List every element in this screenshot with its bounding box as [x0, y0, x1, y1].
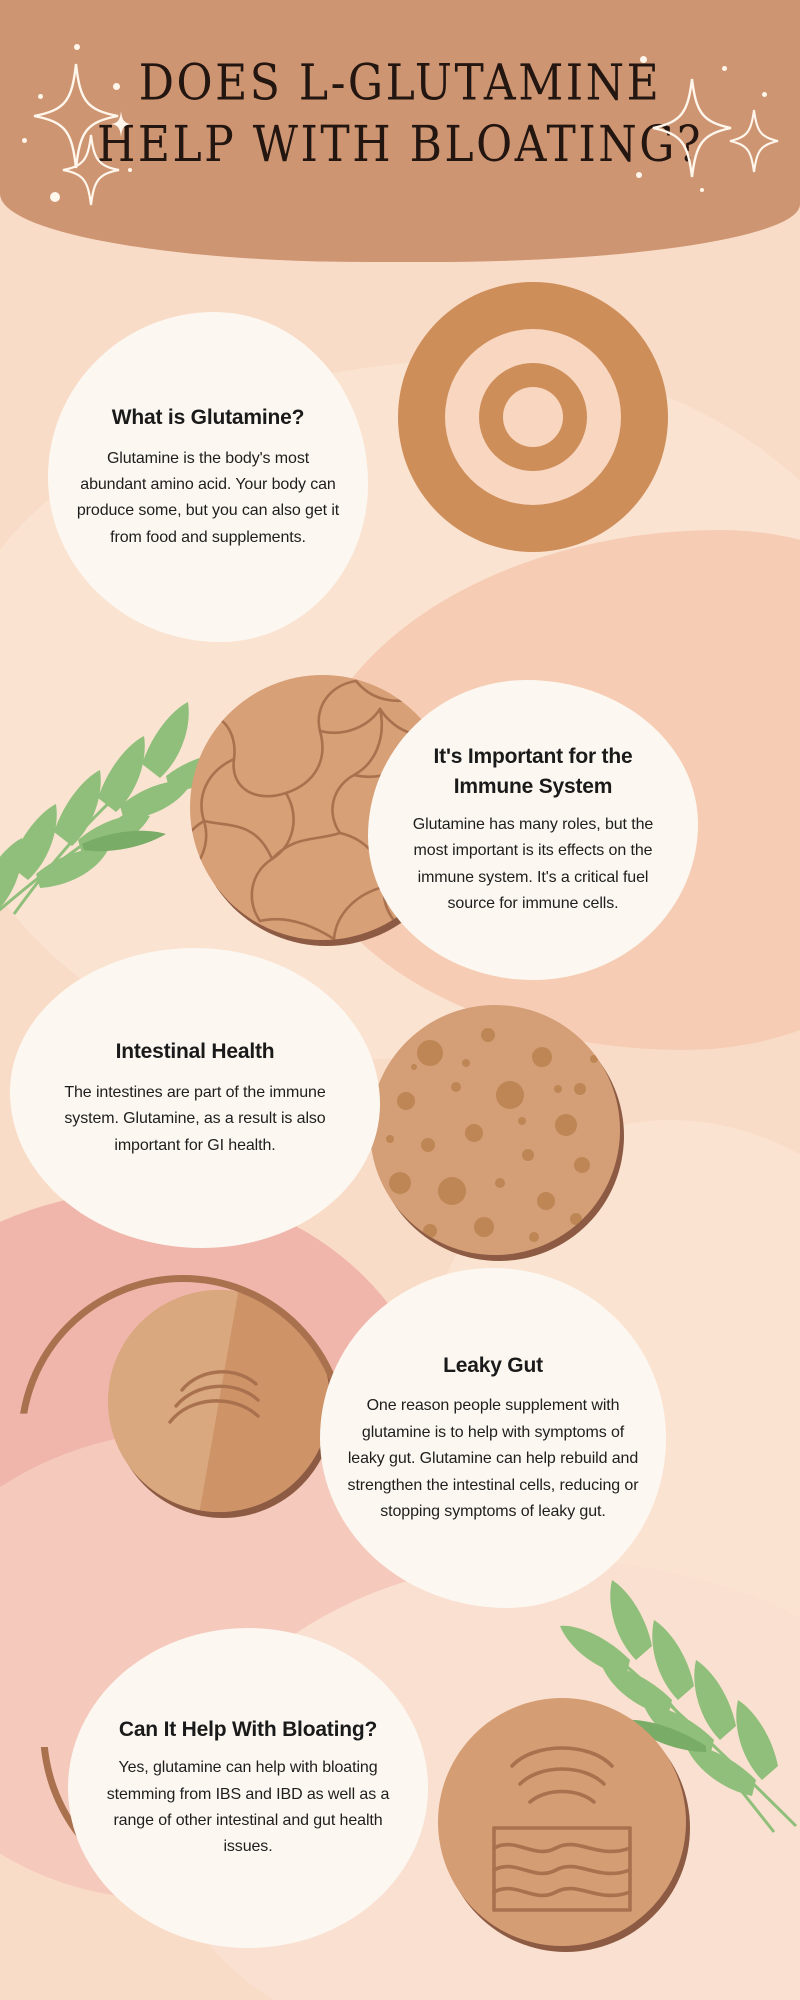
sparkle-dot [762, 92, 767, 97]
header-banner: DOES L-GLUTAMINE HELP WITH BLOATING? [0, 0, 800, 262]
section-body: The intestines are part of the immune sy… [36, 1080, 354, 1159]
sparkle-dot [74, 44, 80, 50]
section-card-bloating: Can It Help With Bloating? Yes, glutamin… [68, 1628, 428, 1948]
sparkle-dot [700, 188, 704, 192]
sparkle-dot [128, 168, 132, 172]
bubbles-texture-circle [370, 1005, 620, 1255]
sparkle-dot [640, 56, 647, 63]
concentric-ring-core-hole [503, 387, 563, 447]
section-heading: Can It Help With Bloating? [119, 1715, 377, 1745]
bloated-stomach-icon [438, 1698, 686, 1946]
section-body: Yes, glutamine can help with bloating st… [94, 1755, 402, 1861]
section-heading: Intestinal Health [116, 1037, 275, 1067]
section-card-immune-system: It's Important for the Immune System Glu… [368, 680, 698, 980]
page-title: DOES L-GLUTAMINE HELP WITH BLOATING? [80, 54, 720, 176]
section-body: Glutamine is the body's most abundant am… [74, 446, 342, 552]
sparkle-dot [50, 192, 60, 202]
sparkle-dot [722, 66, 727, 71]
sparkle-dot [636, 172, 642, 178]
section-body: One reason people supplement with glutam… [346, 1393, 640, 1525]
sparkle-dot [38, 94, 43, 99]
sparkle-dot [113, 83, 120, 90]
section-heading: Leaky Gut [443, 1351, 543, 1381]
section-heading: What is Glutamine? [112, 403, 304, 433]
infographic-canvas: DOES L-GLUTAMINE HELP WITH BLOATING? [0, 0, 800, 2000]
section-heading: It's Important for the Immune System [394, 742, 672, 802]
section-body: Glutamine has many roles, but the most i… [394, 812, 672, 918]
sparkle-dot [22, 138, 27, 143]
